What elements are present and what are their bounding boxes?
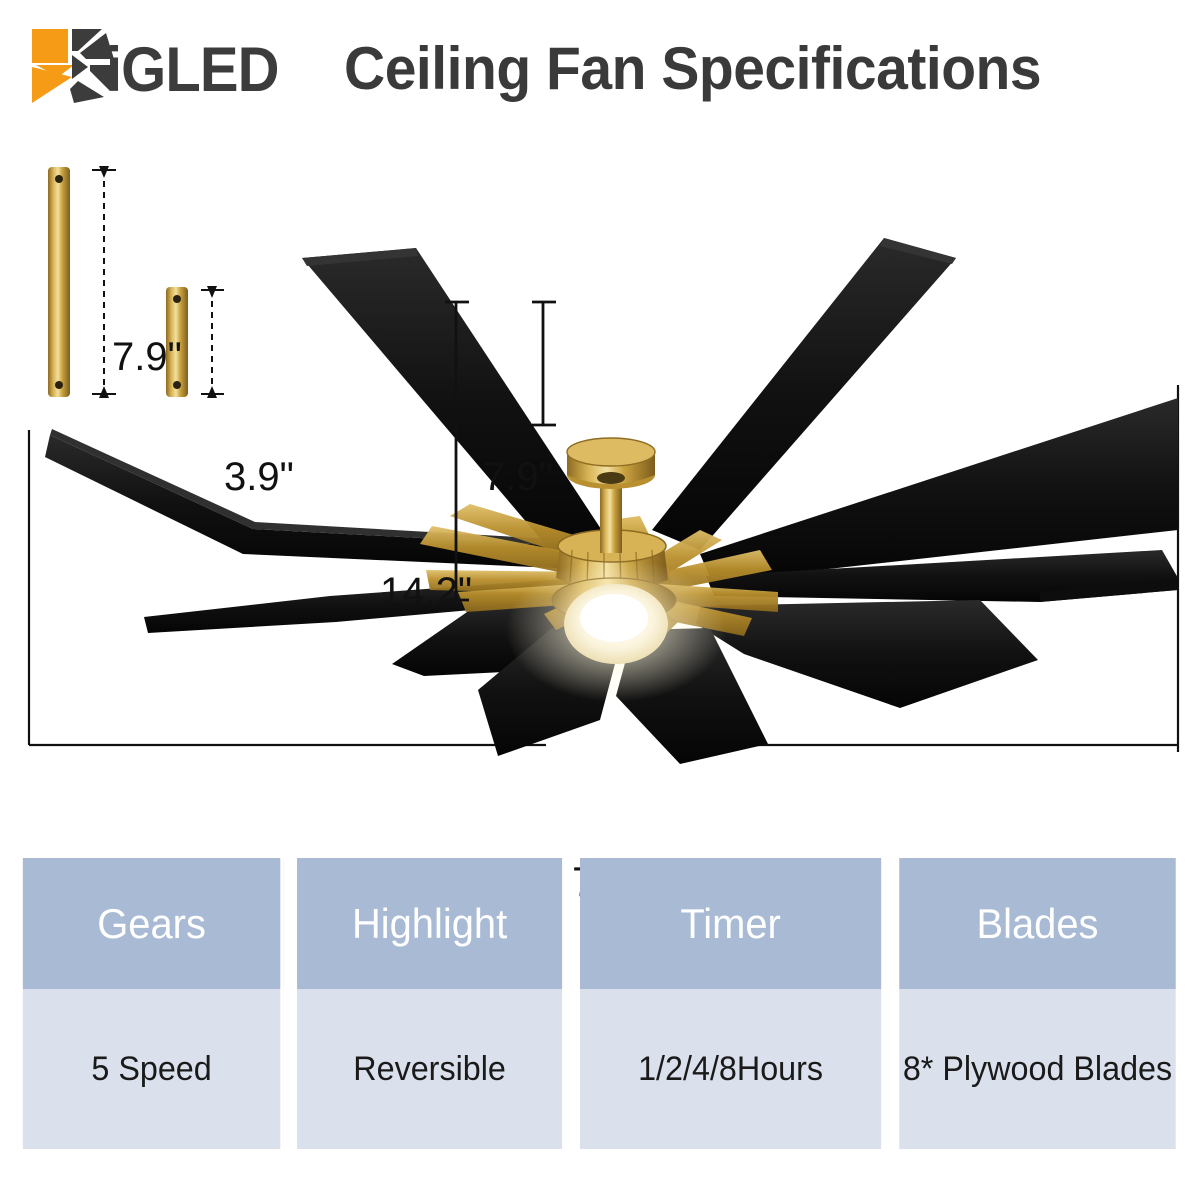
dimension-label-canopy-height: 7.9" [483, 455, 553, 500]
dimension-line-downrod-short [201, 286, 224, 398]
dimension-label-downrod-short: 3.9" [224, 455, 294, 500]
page-title: Ceiling Fan Specifications [344, 34, 1041, 103]
led-light-dome [506, 558, 726, 702]
cell-blades: 8* Plywood Blades [899, 989, 1175, 1149]
product-illustration: 7.9" 3.9" 7.9" 14.2" 71.7" [0, 130, 1200, 830]
fan-blade-left-diagonal [302, 248, 601, 557]
column-header-blades: Blades [899, 858, 1175, 989]
dimension-label-downrod-long: 7.9" [112, 335, 182, 380]
dimension-line-canopy-height [532, 302, 556, 425]
table-row: 5 Speed Reversible 1/2/4/8Hours 8* Plywo… [16, 989, 1183, 1149]
ceiling-fan-graphic [45, 238, 1178, 764]
page-header: iGLED Ceiling Fan Specifications [0, 0, 1200, 130]
column-header-highlight: Highlight [297, 858, 565, 989]
column-header-timer: Timer [580, 858, 884, 989]
brand-wordmark: iGLED [106, 34, 279, 106]
downrod-long-illustration [48, 167, 70, 397]
cell-highlight: Reversible [297, 989, 565, 1149]
dimension-label-total-height: 14.2" [380, 570, 472, 615]
column-header-gears: Gears [23, 858, 283, 989]
cell-timer: 1/2/4/8Hours [580, 989, 884, 1149]
cell-gears: 5 Speed [23, 989, 283, 1149]
specifications-table: Gears Highlight Timer Blades 5 Speed Rev… [16, 858, 1183, 1149]
table-header-row: Gears Highlight Timer Blades [16, 858, 1183, 989]
